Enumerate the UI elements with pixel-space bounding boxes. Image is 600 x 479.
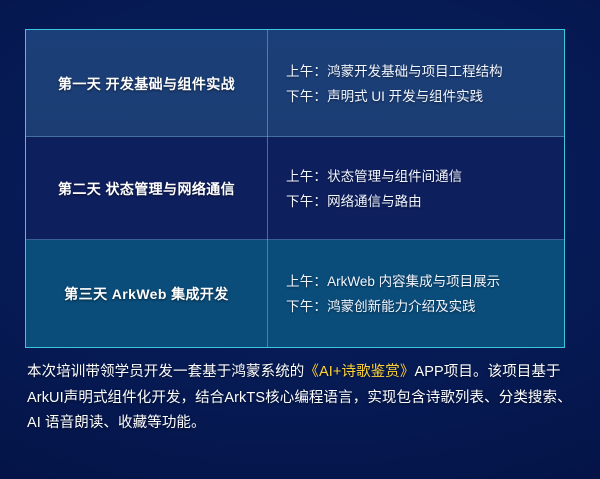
sessions-cell: 上午：ArkWeb 内容集成与项目展示 下午：鸿蒙创新能力介绍及实践 — [268, 240, 564, 347]
session-topic: 声明式 UI 开发与组件实践 — [327, 89, 483, 104]
sessions-cell: 上午：鸿蒙开发基础与项目工程结构 下午：声明式 UI 开发与组件实践 — [268, 30, 564, 137]
session-topic: 鸿蒙开发基础与项目工程结构 — [327, 64, 503, 79]
session-period: 下午： — [286, 299, 327, 314]
session-period: 下午： — [286, 89, 327, 104]
session-line: 上午：鸿蒙开发基础与项目工程结构 — [286, 59, 556, 84]
summary-paragraph: 本次培训带领学员开发一套基于鸿蒙系统的《AI+诗歌鉴赏》APP项目。该项目基于A… — [27, 360, 575, 437]
day-cell: 第三天 ArkWeb 集成开发 — [26, 240, 267, 347]
table-row: 第二天 状态管理与网络通信 上午：状态管理与组件间通信 下午：网络通信与路由 — [26, 137, 564, 240]
session-line: 上午：状态管理与组件间通信 — [286, 164, 556, 189]
session-period: 上午： — [286, 274, 327, 289]
session-period: 下午： — [286, 194, 327, 209]
day-title: 第二天 状态管理与网络通信 — [58, 179, 235, 199]
table-row: 第一天 开发基础与组件实战 上午：鸿蒙开发基础与项目工程结构 下午：声明式 UI… — [26, 30, 564, 137]
table-row: 第三天 ArkWeb 集成开发 上午：ArkWeb 内容集成与项目展示 下午：鸿… — [26, 240, 564, 347]
summary-text-part1: 本次培训带领学员开发一套基于鸿蒙系统的 — [27, 364, 304, 380]
day-title: 第三天 ArkWeb 集成开发 — [64, 284, 228, 304]
slide-canvas: 第一天 开发基础与组件实战 上午：鸿蒙开发基础与项目工程结构 下午：声明式 UI… — [0, 0, 600, 479]
session-topic: 网络通信与路由 — [327, 194, 422, 209]
session-line: 下午：鸿蒙创新能力介绍及实践 — [286, 294, 556, 319]
day-title: 第一天 开发基础与组件实战 — [58, 74, 235, 94]
training-schedule-table: 第一天 开发基础与组件实战 上午：鸿蒙开发基础与项目工程结构 下午：声明式 UI… — [25, 29, 565, 348]
session-topic: ArkWeb 内容集成与项目展示 — [327, 274, 500, 289]
session-line: 上午：ArkWeb 内容集成与项目展示 — [286, 269, 556, 294]
session-period: 上午： — [286, 169, 327, 184]
day-cell: 第一天 开发基础与组件实战 — [26, 30, 267, 137]
day-cell: 第二天 状态管理与网络通信 — [26, 137, 267, 240]
session-topic: 鸿蒙创新能力介绍及实践 — [327, 299, 476, 314]
session-line: 下午：网络通信与路由 — [286, 189, 556, 214]
sessions-cell: 上午：状态管理与组件间通信 下午：网络通信与路由 — [268, 137, 564, 240]
session-line: 下午：声明式 UI 开发与组件实践 — [286, 84, 556, 109]
session-period: 上午： — [286, 64, 327, 79]
session-topic: 状态管理与组件间通信 — [327, 169, 462, 184]
summary-project-name: 《AI+诗歌鉴赏》 — [304, 364, 414, 380]
